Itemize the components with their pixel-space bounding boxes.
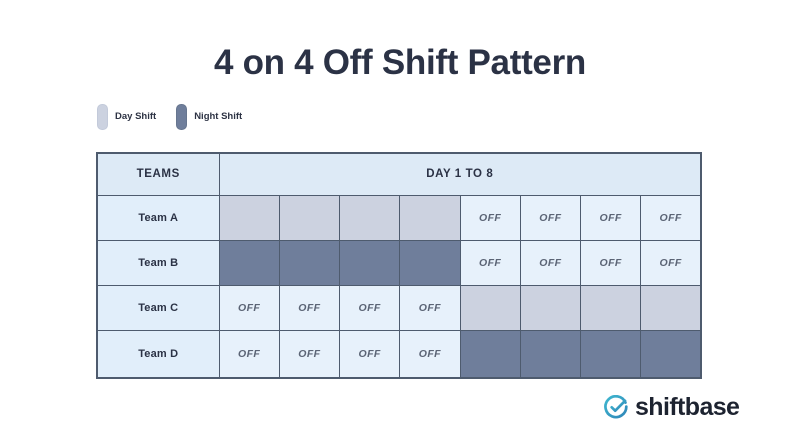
column-header-days: DAY 1 TO 8 — [219, 153, 701, 195]
shift-cell-off: OFF — [460, 240, 520, 285]
night-shift-pill-icon — [176, 104, 187, 130]
shift-cell-night — [460, 330, 520, 378]
legend-label-day-shift: Day Shift — [115, 111, 156, 123]
table-row: Team D OFF OFF OFF OFF — [97, 330, 701, 378]
shift-cell-day — [520, 285, 580, 330]
shift-cell-off: OFF — [400, 330, 460, 378]
day-shift-pill-icon — [97, 104, 108, 130]
shift-cell-night — [520, 330, 580, 378]
table-row: Team B OFF OFF OFF OFF — [97, 240, 701, 285]
shift-cell-day — [460, 285, 520, 330]
column-header-teams: TEAMS — [97, 153, 219, 195]
shift-cell-night — [581, 330, 641, 378]
shift-cell-night — [400, 240, 460, 285]
team-name-cell: Team B — [97, 240, 219, 285]
logo-wordmark: shiftbase — [635, 393, 739, 421]
shift-cell-day — [581, 285, 641, 330]
shift-cell-off: OFF — [340, 285, 400, 330]
legend-item-day-shift: Day Shift — [97, 104, 156, 130]
shift-cell-night — [641, 330, 701, 378]
page-title: 4 on 4 Off Shift Pattern — [0, 42, 800, 84]
team-name-cell: Team A — [97, 195, 219, 240]
shift-cell-off: OFF — [279, 330, 339, 378]
shift-cell-night — [279, 240, 339, 285]
shift-pattern-table: TEAMS DAY 1 TO 8 Team A OFF OFF OFF OFF … — [96, 152, 702, 379]
legend: Day Shift Night Shift — [97, 104, 242, 130]
shift-cell-off: OFF — [641, 240, 701, 285]
shift-pattern-infographic: 4 on 4 Off Shift Pattern Day Shift Night… — [0, 0, 800, 448]
shift-cell-off: OFF — [219, 285, 279, 330]
shift-cell-day — [400, 195, 460, 240]
table-body: Team A OFF OFF OFF OFF Team B OFF OFF OF… — [97, 195, 701, 378]
legend-item-night-shift: Night Shift — [176, 104, 242, 130]
shift-cell-off: OFF — [460, 195, 520, 240]
shift-cell-day — [279, 195, 339, 240]
table-row: Team A OFF OFF OFF OFF — [97, 195, 701, 240]
shift-cell-off: OFF — [641, 195, 701, 240]
shift-cell-off: OFF — [520, 195, 580, 240]
check-circle-icon — [604, 395, 629, 420]
shiftbase-logo: shiftbase — [604, 392, 739, 422]
shift-cell-off: OFF — [581, 240, 641, 285]
shift-cell-off: OFF — [520, 240, 580, 285]
shift-cell-day — [340, 195, 400, 240]
shift-cell-night — [219, 240, 279, 285]
shift-cell-off: OFF — [340, 330, 400, 378]
shift-cell-off: OFF — [219, 330, 279, 378]
shift-cell-day — [641, 285, 701, 330]
shift-cell-off: OFF — [400, 285, 460, 330]
legend-label-night-shift: Night Shift — [194, 111, 242, 123]
shift-cell-day — [219, 195, 279, 240]
shift-cell-night — [340, 240, 400, 285]
table-row: Team C OFF OFF OFF OFF — [97, 285, 701, 330]
shift-cell-off: OFF — [581, 195, 641, 240]
table-header-row: TEAMS DAY 1 TO 8 — [97, 153, 701, 195]
shift-cell-off: OFF — [279, 285, 339, 330]
team-name-cell: Team C — [97, 285, 219, 330]
team-name-cell: Team D — [97, 330, 219, 378]
